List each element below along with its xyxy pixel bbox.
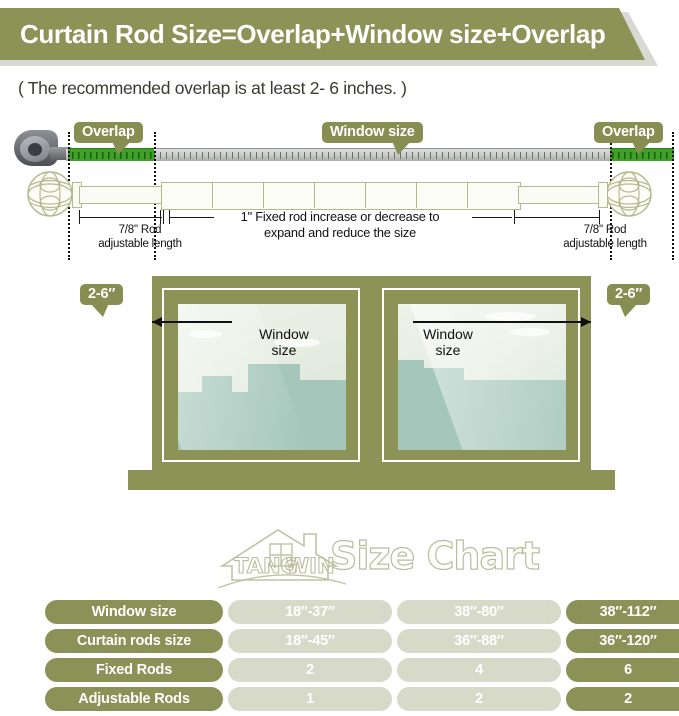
callout-window-size-label: Window size <box>330 124 415 140</box>
dim-label-right-line1: 7/8" Rod <box>584 224 627 236</box>
callout-overlap-left: Overlap <box>74 122 143 143</box>
table-row: Adjustable Rods 1 2 2 <box>45 687 641 711</box>
page-title: Curtain Rod Size=Overlap+Window size+Ove… <box>20 13 620 55</box>
cell-col3: 38″-112″ <box>566 600 679 624</box>
callout-overlap-right-label: Overlap <box>602 124 655 140</box>
cell-col2: 2 <box>397 687 561 711</box>
brand-word-win: WIN <box>286 554 335 578</box>
guide-line-right-outer <box>672 132 674 260</box>
cell-col2: 36″-88″ <box>397 629 561 653</box>
window-size-label-left-line1: Window <box>259 326 309 342</box>
rod-divider <box>263 182 264 208</box>
cell-col1: 1 <box>228 687 392 711</box>
rod-adjustable-left <box>79 186 164 204</box>
callout-tail-icon <box>112 141 131 155</box>
cell-col1: 18″-37″ <box>228 600 392 624</box>
row-label: Adjustable Rods <box>45 687 223 711</box>
callout-tail-icon <box>90 303 109 317</box>
window-pane-left: Window size <box>162 288 360 462</box>
badge-overlap-left: 2-6″ <box>80 284 123 305</box>
callout-tail-icon <box>619 303 638 317</box>
size-chart-title: Size Chart <box>330 534 539 578</box>
cell-col2: 4 <box>397 658 561 682</box>
header-banner: Curtain Rod Size=Overlap+Window size+Ove… <box>0 8 679 66</box>
table-row: Window size 18″-37″ 38″-80″ 38″-112″ <box>45 600 641 624</box>
finial-left-icon <box>26 170 74 218</box>
badge-overlap-right: 2-6″ <box>607 284 650 305</box>
dim-label-left-line1: 7/8" Rod <box>119 224 162 236</box>
dim-label-right: 7/8" Rod adjustable length <box>545 224 665 251</box>
cell-col1: 2 <box>228 658 392 682</box>
dim-label-right-line2: adjustable length <box>563 238 647 250</box>
callout-overlap-left-label: Overlap <box>82 124 135 140</box>
rod-divider <box>365 182 366 208</box>
size-chart-table: Window size 18″-37″ 38″-80″ 38″-112″ Cur… <box>45 600 641 712</box>
dim-tick-center-a <box>163 210 164 224</box>
callout-window-size-top: Window size <box>322 122 423 143</box>
table-row: Fixed Rods 2 4 6 <box>45 658 641 682</box>
callout-overlap-right: Overlap <box>594 122 663 143</box>
badge-overlap-left-label: 2-6″ <box>88 286 115 302</box>
row-label: Fixed Rods <box>45 658 223 682</box>
cell-col3: 2 <box>566 687 679 711</box>
window-size-label-right-line2: size <box>436 342 461 358</box>
dim-line-right <box>514 217 600 218</box>
finial-right-icon <box>605 170 653 218</box>
dim-line-left <box>79 217 162 218</box>
window-pane-right: Window size <box>382 288 580 462</box>
rod-divider <box>212 182 213 208</box>
dim-label-left: 7/8" Rod adjustable length <box>80 224 200 251</box>
window-frame: Window size Window size <box>152 276 591 474</box>
dim-tick-right-b <box>599 210 600 224</box>
window-size-label-right: Window size <box>402 326 494 358</box>
window-size-label-left-line2: size <box>272 342 297 358</box>
window-diagram: 2-6″ 2-6″ Window size <box>0 258 679 510</box>
callout-tail-icon <box>632 141 651 155</box>
dim-label-center-line1: 1" Fixed rod increase or decrease to <box>241 209 440 224</box>
dim-label-center: 1" Fixed rod increase or decrease to exp… <box>195 209 485 241</box>
dim-tick-left-b <box>160 210 161 224</box>
tape-measure-hub <box>28 143 42 156</box>
cell-col3: 6 <box>566 658 679 682</box>
rod-divider <box>314 182 315 208</box>
rod-diagram: Overlap Window size Overlap <box>0 112 679 260</box>
table-row: Curtain rods size 18″-45″ 36″-88″ 36″-12… <box>45 629 641 653</box>
subtitle-note: ( The recommended overlap is at least 2-… <box>18 78 618 99</box>
rod-divider <box>416 182 417 208</box>
dim-label-center-line2: expand and reduce the size <box>264 225 416 240</box>
cell-col1: 18″-45″ <box>228 629 392 653</box>
window-sill <box>128 470 615 490</box>
window-size-label-right-line1: Window <box>423 326 473 342</box>
row-label: Curtain rods size <box>45 629 223 653</box>
rod-adjustable-right <box>518 186 604 204</box>
skyline-block <box>398 360 424 390</box>
cell-col3: 36″-120″ <box>566 629 679 653</box>
dim-label-left-line2: adjustable length <box>98 238 182 250</box>
row-label: Window size <box>45 600 223 624</box>
window-size-label-left: Window size <box>238 326 330 358</box>
cell-col2: 38″-80″ <box>397 600 561 624</box>
badge-overlap-right-label: 2-6″ <box>615 286 642 302</box>
rod-divider <box>467 182 468 208</box>
brand-logo: TANG WIN Size Chart <box>0 518 679 592</box>
rod-cap-right <box>598 182 608 208</box>
skyline-block <box>298 380 346 408</box>
callout-tail-icon <box>392 141 411 155</box>
